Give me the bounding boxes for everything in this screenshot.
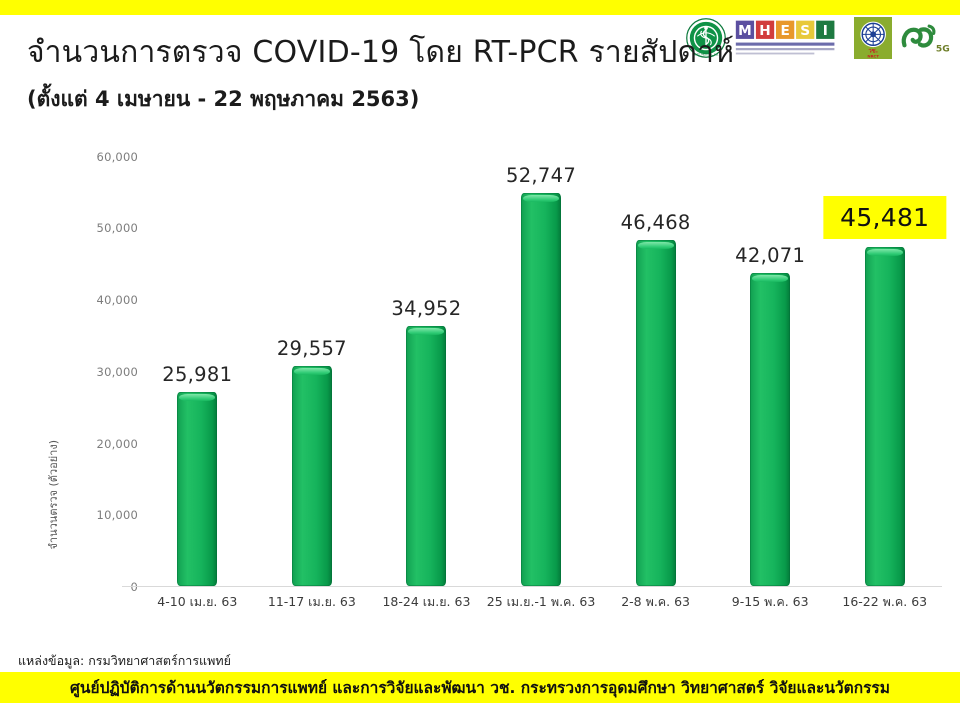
svg-text:NRCT: NRCT	[867, 54, 879, 59]
svg-text:S: S	[800, 23, 810, 39]
page-title: จำนวนการตรวจ COVID-19 โดย RT-PCR รายสัปด…	[27, 36, 734, 71]
bar-value-label: 25,981	[162, 363, 232, 386]
bar-slot: 46,468	[598, 140, 713, 586]
x-tick-label: 18-24 เม.ย. 63	[369, 592, 484, 612]
x-axis-labels: 4-10 เม.ย. 63 11-17 เม.ย. 63 18-24 เม.ย.…	[140, 592, 942, 612]
svg-text:I: I	[822, 23, 827, 39]
top-yellow-band	[0, 0, 960, 15]
y-tick-50000: 50,000	[76, 221, 138, 235]
bar-series: 25,981 29,557 34,952 52,747 46,468 42,07	[140, 140, 942, 586]
page-subtitle: (ตั้งแต่ 4 เมษายน - 22 พฤษภาคม 2563)	[27, 87, 419, 112]
nrct-logo: วช. NRCT	[854, 17, 892, 59]
bar-slot: 52,747	[484, 140, 599, 586]
bar-slot: 25,981	[140, 140, 255, 586]
x-tick-label: 11-17 เม.ย. 63	[255, 592, 370, 612]
bar-value-label-highlighted: 45,481	[823, 196, 946, 239]
wor-chor-5g-logo: 5G	[899, 17, 952, 59]
bar-slot: 45,481	[827, 140, 942, 586]
y-tick-20000: 20,000	[76, 437, 138, 451]
table-row[interactable]	[521, 193, 561, 586]
table-row[interactable]	[177, 392, 217, 586]
bar-slot: 29,557	[255, 140, 370, 586]
mhesi-logo: M H E S I	[734, 17, 847, 59]
y-axis-ticks: 60,000 50,000 40,000 30,000 20,000 10,00…	[28, 140, 138, 590]
y-tick-40000: 40,000	[76, 293, 138, 307]
x-tick-label: 25 เม.ย.-1 พ.ค. 63	[484, 592, 599, 612]
bar-value-label: 52,747	[506, 164, 576, 187]
axis-baseline	[122, 586, 942, 587]
bottom-yellow-band: ศูนย์ปฏิบัติการด้านนวัตกรรมการแพทย์ และก…	[0, 672, 960, 703]
bar-slot: 42,071	[713, 140, 828, 586]
x-tick-label: 2-8 พ.ค. 63	[598, 592, 713, 612]
bar-value-label: 46,468	[621, 211, 691, 234]
bar-value-label: 29,557	[277, 337, 347, 360]
table-row[interactable]	[865, 247, 905, 586]
x-tick-label: 9-15 พ.ค. 63	[713, 592, 828, 612]
svg-text:E: E	[780, 23, 789, 39]
svg-text:H: H	[759, 23, 770, 39]
data-source-note: แหล่งข้อมูล: กรมวิทยาศาสตร์การแพทย์	[18, 651, 231, 671]
table-row[interactable]	[750, 273, 790, 586]
bar-chart: จำนวนตรวจ (ตัวอย่าง) 60,000 50,000 40,00…	[0, 140, 960, 630]
x-tick-label: 16-22 พ.ค. 63	[827, 592, 942, 612]
table-row[interactable]	[406, 326, 446, 586]
svg-text:M: M	[738, 23, 752, 39]
y-tick-60000: 60,000	[76, 150, 138, 164]
bar-value-label: 42,071	[735, 244, 805, 267]
bottom-band-text: ศูนย์ปฏิบัติการด้านนวัตกรรมการแพทย์ และก…	[70, 675, 890, 700]
x-tick-label: 4-10 เม.ย. 63	[140, 592, 255, 612]
bar-value-label: 34,952	[391, 297, 461, 320]
y-tick-30000: 30,000	[76, 365, 138, 379]
table-row[interactable]	[636, 240, 676, 586]
y-tick-10000: 10,000	[76, 508, 138, 522]
svg-text:5G: 5G	[936, 45, 950, 55]
plot-area: 25,981 29,557 34,952 52,747 46,468 42,07	[140, 140, 942, 587]
y-tick-0: 0	[76, 580, 138, 594]
table-row[interactable]	[292, 366, 332, 586]
bar-slot: 34,952	[369, 140, 484, 586]
